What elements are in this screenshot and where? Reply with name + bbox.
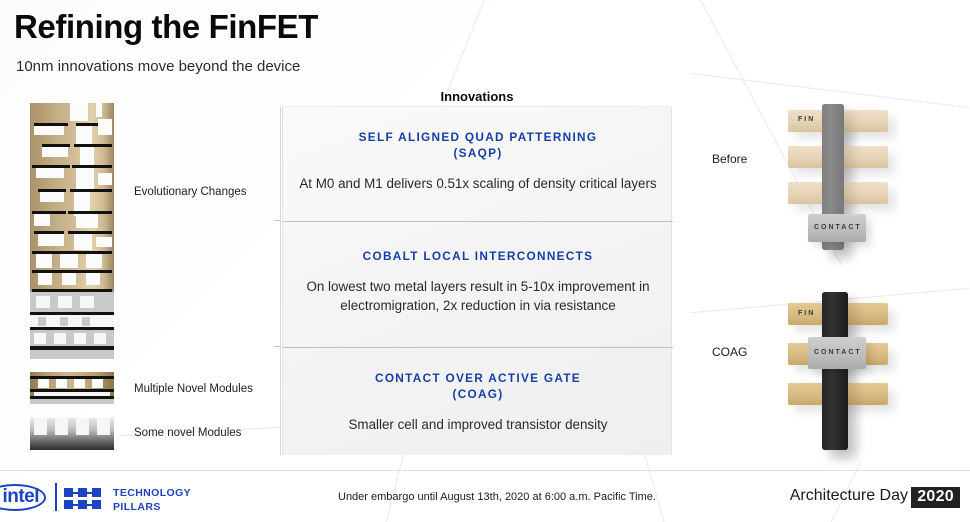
fin-label-coag: FIN xyxy=(798,310,815,317)
pillars-line-2: PILLARS xyxy=(113,501,161,513)
technology-pillars-text: TECHNOLOGY PILLARS xyxy=(113,486,191,514)
left-tick-2 xyxy=(274,346,281,347)
left-tick-1 xyxy=(274,220,281,221)
innovation-card-cobalt[interactable]: COBALT LOCAL INTERCONNECTS On lowest two… xyxy=(283,221,673,347)
innovation-card-saqp-heading: SELF ALIGNED QUAD PATTERNING (SAQP) xyxy=(297,107,659,161)
gate-coag-front xyxy=(822,292,848,450)
contact-label-before: CONTACT xyxy=(814,224,862,231)
innovation-card-coag[interactable]: CONTACT OVER ACTIVE GATE (COAG) Smaller … xyxy=(283,347,673,456)
left-vertical-rule xyxy=(280,107,281,455)
event-name: Architecture Day xyxy=(790,487,908,505)
intel-logo: intel xyxy=(0,484,46,511)
footer-separator xyxy=(55,483,57,511)
fin-label-before: FIN xyxy=(798,116,815,123)
left-label-multiple-novel-modules: Multiple Novel Modules xyxy=(134,383,253,395)
footer-divider xyxy=(0,470,970,471)
left-label-some-novel-modules: Some novel Modules xyxy=(134,427,241,439)
innovation-card-cobalt-body: On lowest two metal layers result in 5-1… xyxy=(297,277,659,315)
pillars-line-1: TECHNOLOGY xyxy=(113,487,191,499)
innovations-panel: SELF ALIGNED QUAD PATTERNING (SAQP) At M… xyxy=(282,106,672,455)
innovation-card-saqp-body: At M0 and M1 delivers 0.51x scaling of d… xyxy=(297,174,659,193)
diagram-before-label: Before xyxy=(712,152,747,166)
event-year-badge: 2020 xyxy=(911,487,960,508)
innovation-card-saqp[interactable]: SELF ALIGNED QUAD PATTERNING (SAQP) At M… xyxy=(283,107,673,221)
contact-label-coag: CONTACT xyxy=(814,349,862,356)
innovation-card-coag-heading: CONTACT OVER ACTIVE GATE (COAG) xyxy=(297,348,659,402)
innovation-card-cobalt-heading: COBALT LOCAL INTERCONNECTS xyxy=(297,222,659,264)
diagram-coag-label: COAG xyxy=(712,345,747,359)
page-title: Refining the FinFET xyxy=(14,8,318,46)
embargo-notice: Under embargo until August 13th, 2020 at… xyxy=(338,491,656,503)
left-label-evolutionary-changes: Evolutionary Changes xyxy=(134,186,247,198)
innovation-card-saqp-heading-line1: SELF ALIGNED QUAD PATTERNING xyxy=(359,130,598,144)
innovation-card-coag-heading-line1: CONTACT OVER ACTIVE GATE xyxy=(375,371,581,385)
multiple-novel-modules-image xyxy=(30,372,114,404)
innovation-card-saqp-heading-line2: (SAQP) xyxy=(453,146,502,160)
page-subtitle: 10nm innovations move beyond the device xyxy=(16,58,300,75)
innovation-card-coag-body: Smaller cell and improved transistor den… xyxy=(297,415,659,434)
some-novel-modules-image xyxy=(30,418,114,450)
innovations-panel-title: Innovations xyxy=(282,89,672,104)
innovation-card-coag-heading-line2: (COAG) xyxy=(452,387,503,401)
technology-pillars-icon xyxy=(64,488,104,508)
slide-root: Refining the FinFET 10nm innovations mov… xyxy=(0,0,970,522)
metal-stack-cross-section-image xyxy=(30,103,114,359)
